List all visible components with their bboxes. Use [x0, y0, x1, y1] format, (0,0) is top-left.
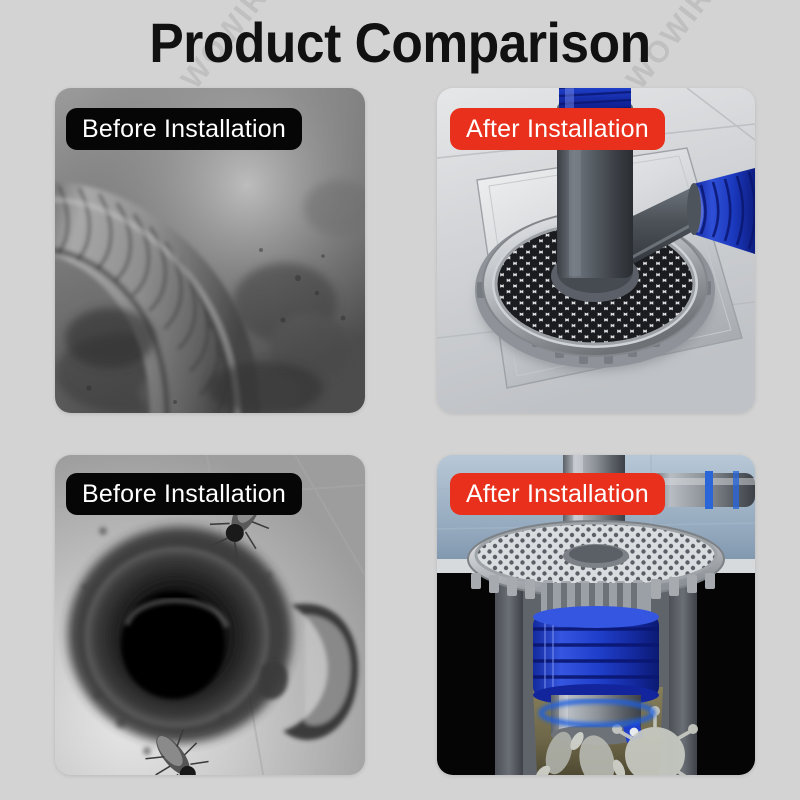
badge-after-installation-bottom: After Installation: [450, 473, 665, 515]
badge-before-installation-top: Before Installation: [66, 108, 302, 150]
badge-after-installation-top: After Installation: [450, 108, 665, 150]
product-comparison-page: WOWIREFACT WOWIREFACT WOWIREFACT WOWIREF…: [0, 0, 800, 800]
badge-before-installation-bottom: Before Installation: [66, 473, 302, 515]
page-title: Product Comparison: [32, 12, 768, 74]
